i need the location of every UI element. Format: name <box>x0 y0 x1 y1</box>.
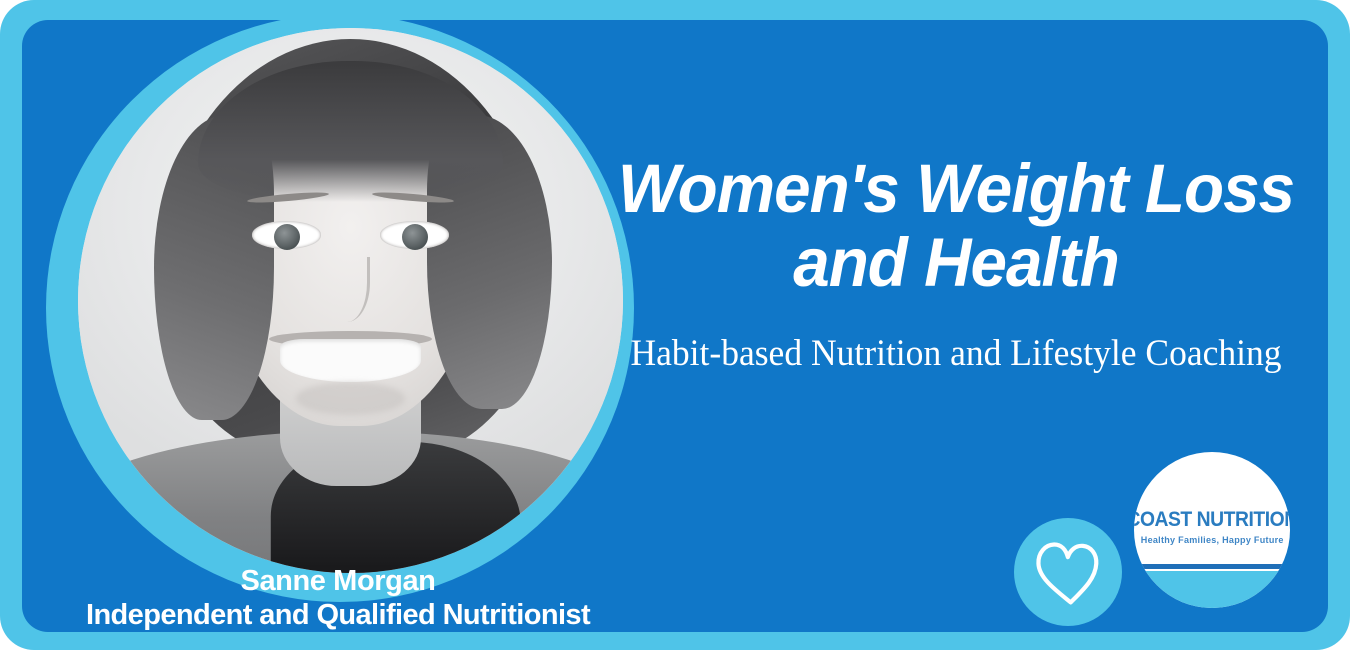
headline-block: Women's Weight Loss and Health Habit-bas… <box>582 152 1328 376</box>
person-name: Sanne Morgan <box>46 565 630 597</box>
logo-wave <box>1134 571 1290 608</box>
portrait-container <box>46 20 634 594</box>
photo-chin <box>296 382 405 415</box>
page-subtitle: Habit-based Nutrition and Lifestyle Coac… <box>597 332 1315 376</box>
heart-icon <box>1031 536 1105 608</box>
promo-banner: Sanne Morgan Independent and Qualified N… <box>0 0 1350 650</box>
logo-name: COAST NUTRITION <box>1134 508 1290 532</box>
heart-badge <box>1014 518 1122 626</box>
photo-smile <box>280 339 422 383</box>
brand-logo: COAST NUTRITION Healthy Families, Happy … <box>1134 452 1290 608</box>
person-role: Independent and Qualified Nutritionist <box>46 599 630 632</box>
presenter-credit: Sanne Morgan Independent and Qualified N… <box>46 565 630 632</box>
portrait-photo <box>78 28 623 573</box>
logo-divider <box>1140 564 1284 569</box>
page-title: Women's Weight Loss and Health <box>601 152 1312 300</box>
banner-card: Sanne Morgan Independent and Qualified N… <box>22 20 1328 632</box>
logo-tagline: Healthy Families, Happy Future <box>1141 535 1284 546</box>
